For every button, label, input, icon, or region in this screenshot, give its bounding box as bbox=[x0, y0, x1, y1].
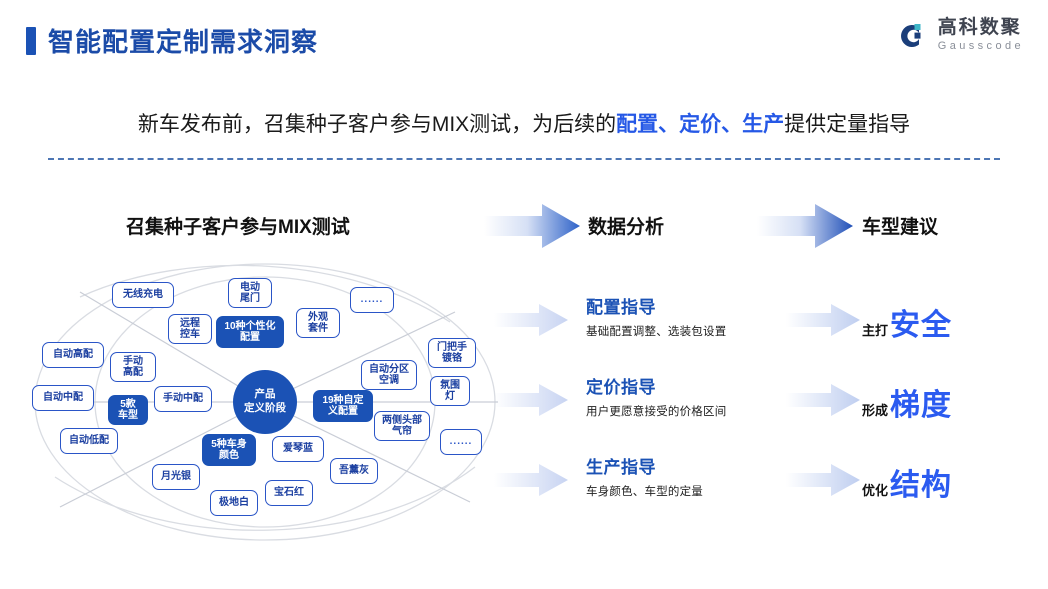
subtitle-part1: 新车发布前，召集种子客户参与MIX测试，为后续的 bbox=[138, 113, 616, 136]
flow-arrow-2-icon bbox=[757, 203, 853, 249]
column-header-mix: 召集种子客户参与MIX测试 bbox=[126, 212, 350, 239]
subtitle-highlight: 配置、定价、生产 bbox=[616, 113, 784, 136]
analysis-row-3-title: 生产指导 bbox=[586, 457, 816, 478]
gausscode-logo-icon bbox=[895, 19, 929, 53]
brand-logo: 高科数聚 Gausscode bbox=[895, 18, 1024, 54]
diagram-node[interactable]: 无线充电 bbox=[112, 282, 174, 308]
diagram-node[interactable]: 外观 套件 bbox=[296, 308, 340, 338]
subtitle: 新车发布前，召集种子客户参与MIX测试，为后续的配置、定价、生产提供定量指导 bbox=[0, 108, 1048, 138]
diagram-node[interactable]: 5种车身 颜色 bbox=[202, 434, 256, 466]
recommendation-1-keyword: 安全 bbox=[890, 300, 952, 344]
section-divider bbox=[48, 158, 1000, 160]
analysis-row-1-desc: 基础配置调整、选装包设置 bbox=[586, 323, 816, 339]
recommendation-2[interactable]: 形成 梯度 bbox=[862, 380, 952, 424]
title-text: 智能配置定制需求洞察 bbox=[48, 22, 318, 59]
diagram-node[interactable]: 爱琴蓝 bbox=[272, 436, 324, 462]
column-header-analysis: 数据分析 bbox=[588, 212, 664, 239]
analysis-row-3-desc: 车身颜色、车型的定量 bbox=[586, 483, 816, 499]
logo-name-en: Gausscode bbox=[938, 39, 1024, 54]
analysis-row-2-title: 定价指导 bbox=[586, 377, 816, 398]
analysis-row-2[interactable]: 定价指导 用户更愿意接受的价格区间 bbox=[586, 377, 816, 419]
diagram-node[interactable]: 月光银 bbox=[152, 464, 200, 490]
analysis-row-1-title: 配置指导 bbox=[586, 297, 816, 318]
slide-root: 智能配置定制需求洞察 高科数聚 Gausscode 新车发布前，召集种子客户参与… bbox=[0, 0, 1048, 589]
diagram-node[interactable]: 自动低配 bbox=[60, 428, 118, 454]
diagram-node[interactable]: ...... bbox=[350, 287, 394, 313]
diagram-node[interactable]: 手动 高配 bbox=[110, 352, 156, 382]
diagram-node[interactable]: ...... bbox=[440, 429, 482, 455]
slide-header: 智能配置定制需求洞察 高科数聚 Gausscode bbox=[0, 0, 1048, 78]
diagram-node[interactable]: 门把手 镀铬 bbox=[428, 338, 476, 368]
recommendation-3[interactable]: 优化 结构 bbox=[862, 460, 952, 504]
recommendation-3-keyword: 结构 bbox=[890, 460, 952, 504]
diagram-node[interactable]: 远程 控车 bbox=[168, 314, 212, 344]
diagram-center-node[interactable]: 产品 定义阶段 bbox=[233, 370, 297, 434]
diagram-node[interactable]: 19种自定 义配置 bbox=[313, 390, 373, 422]
diagram-node[interactable]: 两侧头部 气帘 bbox=[374, 411, 430, 441]
diagram-node[interactable]: 电动 尾门 bbox=[228, 278, 272, 308]
recommendation-3-prefix: 优化 bbox=[862, 480, 888, 499]
analysis-row-1[interactable]: 配置指导 基础配置调整、选装包设置 bbox=[586, 297, 816, 339]
diagram-node[interactable]: 10种个性化 配置 bbox=[216, 316, 284, 348]
diagram-node[interactable]: 自动分区 空调 bbox=[361, 360, 417, 390]
diagram-node[interactable]: 自动高配 bbox=[42, 342, 104, 368]
diagram-node[interactable]: 自动中配 bbox=[32, 385, 94, 411]
diagram-node[interactable]: 吾薰灰 bbox=[330, 458, 378, 484]
column-header-recommendation: 车型建议 bbox=[862, 212, 938, 239]
subtitle-part2: 提供定量指导 bbox=[784, 113, 910, 136]
diagram-node[interactable]: 极地白 bbox=[210, 490, 258, 516]
flow-arrow-1-icon bbox=[484, 203, 580, 249]
recommendation-1-prefix: 主打 bbox=[862, 320, 888, 339]
mix-test-diagram: 产品 定义阶段 无线充电电动 尾门......远程 控车10种个性化 配置外观 … bbox=[20, 252, 510, 552]
analysis-row-2-desc: 用户更愿意接受的价格区间 bbox=[586, 403, 816, 419]
logo-text: 高科数聚 Gausscode bbox=[938, 18, 1024, 54]
recommendation-2-keyword: 梯度 bbox=[890, 380, 952, 424]
recommendation-2-prefix: 形成 bbox=[862, 400, 888, 419]
diagram-node[interactable]: 氛围 灯 bbox=[430, 376, 470, 406]
row-arrow-right-1-icon bbox=[786, 303, 860, 337]
diagram-node[interactable]: 宝石红 bbox=[265, 480, 313, 506]
logo-name-cn: 高科数聚 bbox=[938, 18, 1022, 39]
title-accent-bar bbox=[26, 27, 36, 55]
analysis-row-3[interactable]: 生产指导 车身颜色、车型的定量 bbox=[586, 457, 816, 499]
recommendation-1[interactable]: 主打 安全 bbox=[862, 300, 952, 344]
diagram-node[interactable]: 5款 车型 bbox=[108, 395, 148, 425]
row-arrow-right-3-icon bbox=[786, 463, 860, 497]
diagram-node[interactable]: 手动中配 bbox=[154, 386, 212, 412]
page-title: 智能配置定制需求洞察 bbox=[26, 22, 318, 59]
row-arrow-right-2-icon bbox=[786, 383, 860, 417]
